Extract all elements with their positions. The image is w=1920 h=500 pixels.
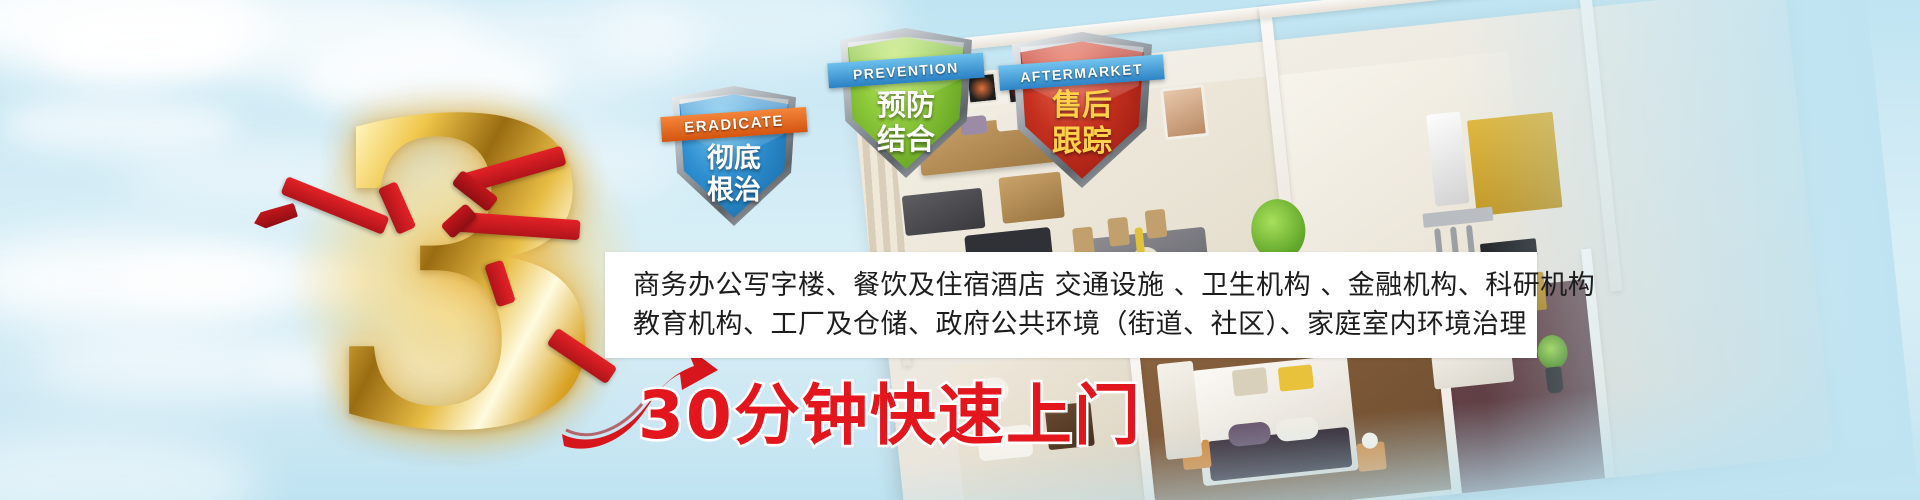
plant-icon (1536, 334, 1569, 371)
headboard (1207, 427, 1352, 482)
cloud-icon (0, 95, 240, 155)
bed (1192, 355, 1359, 487)
cloud-icon (40, 10, 240, 80)
service-scope-line-2: 教育机构、工厂及仓储、政府公共环境（街道、社区）、家庭室内环境治理 (633, 305, 1537, 344)
headline-text: 30分钟快速上门 (638, 377, 1142, 454)
service-scope-panel: 商务办公写字楼、餐饮及住宿酒店 交通设施 、卫生机构 、金融机构、科研机构 教育… (605, 252, 1537, 358)
shield-cn-line2: 结合 (840, 124, 972, 155)
shield-aftermarket: AFTERMARKET 售后 跟踪 (1012, 32, 1152, 188)
wall-cabinet (1467, 112, 1563, 216)
promo-banner: 3 ERADICATE 彻底 根治 PREVENTION 预防 (0, 0, 1920, 500)
shield-band-label: ERADICATE (684, 113, 785, 137)
service-scope-line-1: 商务办公写字楼、餐饮及住宿酒店 交通设施 、卫生机构 、金融机构、科研机构 (633, 266, 1537, 305)
shield-band-label: AFTERMARKET (1020, 60, 1144, 85)
cloud-icon (0, 430, 260, 500)
cloud-icon (0, 235, 280, 325)
cloud-icon (0, 0, 270, 80)
shield-cn-line2: 跟踪 (1012, 126, 1152, 158)
shield-cn-line1: 彻底 (672, 144, 796, 173)
shield-cn-line1: 预防 (840, 90, 972, 121)
edge-fade-right (1440, 0, 1916, 500)
shield-prevention: PREVENTION 预防 结合 (840, 28, 972, 178)
shield-cn-line2: 根治 (672, 176, 796, 205)
shield-cn-line1: 售后 (1012, 90, 1152, 122)
shield-band-label: PREVENTION (853, 59, 960, 82)
shield-eradicate: ERADICATE 彻底 根治 (672, 86, 796, 226)
refrigerator (1426, 111, 1469, 206)
headline-30min-service: 30分钟快速上门 (638, 362, 1142, 458)
